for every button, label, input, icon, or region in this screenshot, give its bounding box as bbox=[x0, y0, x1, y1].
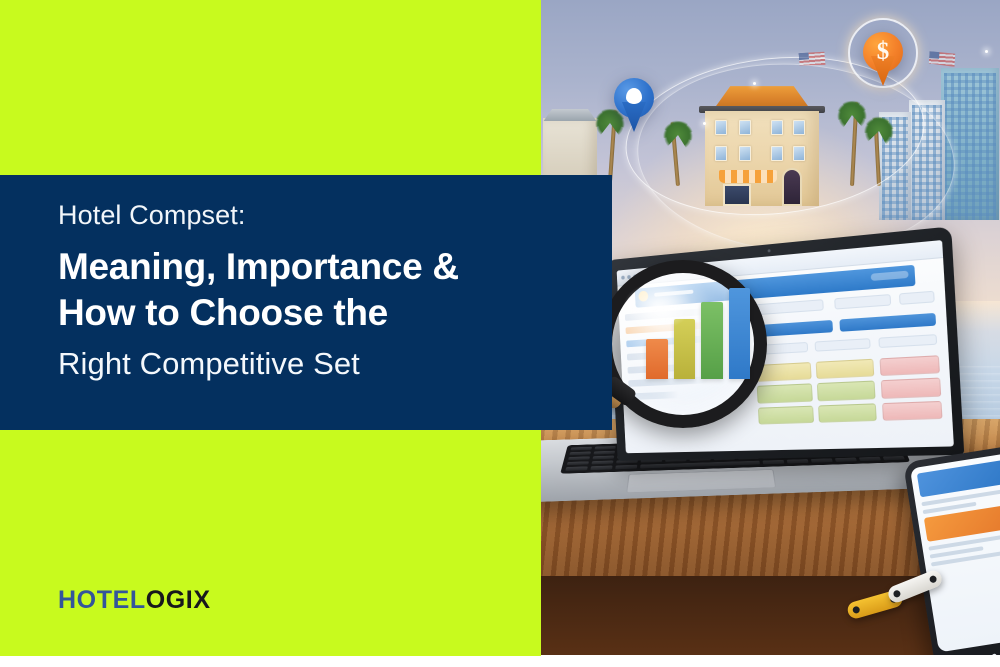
key bbox=[592, 456, 614, 460]
key bbox=[565, 467, 587, 471]
key bbox=[591, 461, 613, 465]
photo-bottom-margin bbox=[541, 655, 1000, 667]
status-tile bbox=[880, 378, 941, 399]
bar-comp-b bbox=[674, 319, 696, 379]
key bbox=[763, 460, 785, 464]
sparkle bbox=[703, 122, 706, 125]
key bbox=[594, 446, 615, 450]
logo-part-ogix: OGIX bbox=[146, 586, 211, 614]
panel-field bbox=[835, 295, 892, 310]
status-tile bbox=[879, 355, 940, 376]
key bbox=[883, 456, 905, 460]
laptop-trackpad bbox=[626, 469, 777, 494]
hotelogix-logo: HOTELOGIX bbox=[58, 586, 211, 615]
status-tile bbox=[817, 381, 875, 401]
logo-part-hotel: HOTEL bbox=[58, 586, 146, 614]
headline-tail-line: Right Competitive Set bbox=[58, 346, 612, 382]
panel-field bbox=[899, 291, 935, 304]
key bbox=[615, 465, 637, 469]
key bbox=[787, 459, 809, 463]
dollar-pin: $ bbox=[863, 32, 903, 86]
blog-banner: $ bbox=[0, 0, 1000, 667]
headline-panel: Hotel Compset: Meaning, Importance & How… bbox=[0, 175, 612, 430]
magnifying-glass bbox=[599, 260, 767, 428]
headline-text: Meaning, Importance & How to Choose the bbox=[58, 244, 612, 337]
webcam bbox=[767, 249, 770, 252]
sparkle bbox=[985, 50, 988, 53]
headline-line-1: Meaning, Importance & bbox=[58, 244, 612, 291]
flag-left bbox=[798, 51, 825, 67]
lime-bottom-margin bbox=[0, 656, 542, 667]
dollar-icon: $ bbox=[863, 34, 903, 70]
key bbox=[590, 466, 612, 470]
pin-inner-dot bbox=[626, 88, 642, 104]
pin-tail bbox=[622, 102, 646, 132]
key bbox=[568, 456, 590, 460]
status-tile bbox=[818, 403, 876, 423]
bar-comp-a bbox=[646, 339, 668, 379]
bar-comp-d bbox=[729, 288, 751, 379]
key bbox=[570, 447, 592, 451]
headline-line-2: How to Choose the bbox=[58, 290, 612, 337]
key bbox=[811, 459, 833, 463]
flag-canton bbox=[798, 52, 809, 60]
key bbox=[593, 451, 615, 455]
key bbox=[859, 457, 881, 461]
sparkle bbox=[753, 82, 756, 85]
status-tile bbox=[882, 401, 943, 421]
panel-field bbox=[878, 334, 937, 348]
panel-field bbox=[815, 338, 871, 352]
eyebrow-text: Hotel Compset: bbox=[58, 201, 612, 231]
header-action-placeholder bbox=[871, 271, 909, 281]
panel-cta bbox=[839, 312, 935, 332]
flag-canton bbox=[929, 51, 939, 59]
location-pin bbox=[614, 78, 654, 132]
status-tile bbox=[816, 358, 874, 379]
bar-comp-c bbox=[701, 302, 723, 379]
magnified-bar-chart bbox=[646, 283, 750, 379]
key bbox=[835, 458, 857, 462]
key bbox=[569, 451, 591, 455]
dashboard-main-panel bbox=[752, 288, 946, 445]
key bbox=[566, 461, 588, 465]
